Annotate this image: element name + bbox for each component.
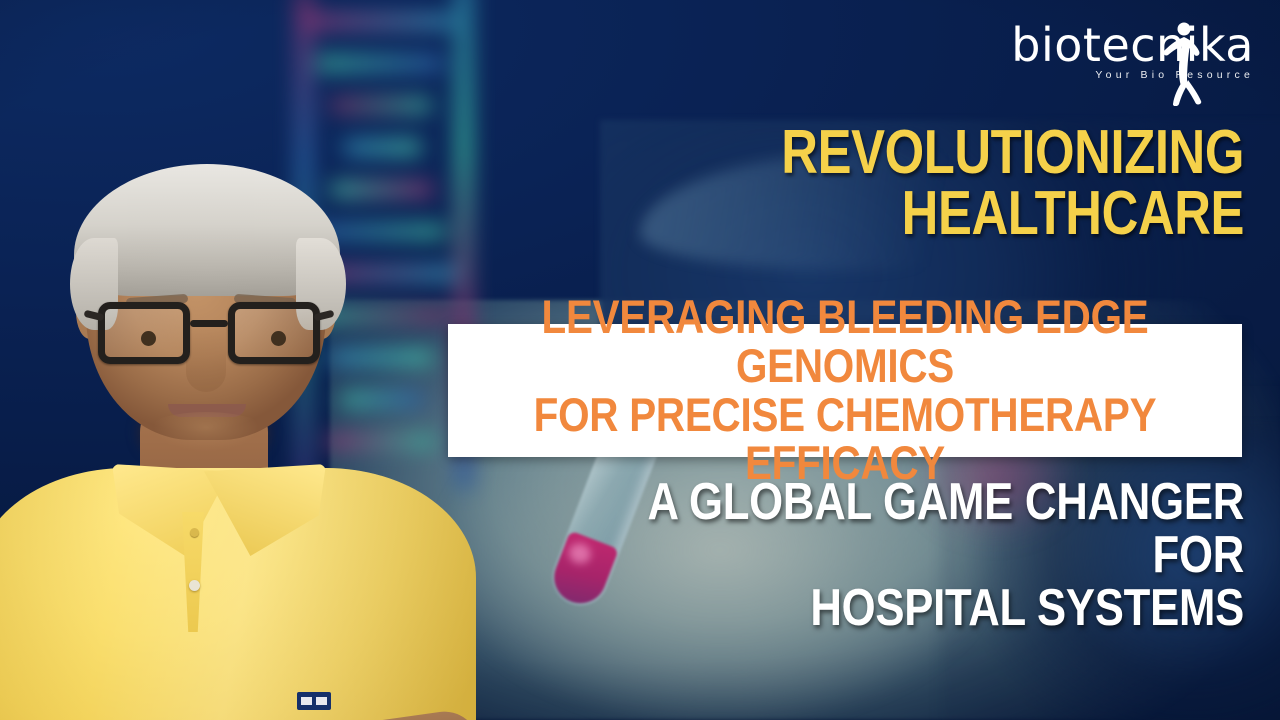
banner-strip: LEVERAGING BLEEDING EDGE GENOMICS FOR PR… xyxy=(448,324,1242,457)
portrait-photo xyxy=(0,60,460,720)
subhead-line-2: HOSPITAL SYSTEMS xyxy=(606,582,1244,635)
eyeglasses-icon xyxy=(98,296,320,374)
banner-line-1: LEVERAGING BLEEDING EDGE GENOMICS xyxy=(504,293,1187,391)
logo-tagline: Your Bio Resource xyxy=(986,69,1254,81)
logo-wordmark: biotecnika xyxy=(986,22,1254,68)
headline: REVOLUTIONIZING HEALTHCARE xyxy=(654,122,1244,245)
shirt-brand-patch xyxy=(297,692,331,710)
thumbnail-canvas: biotecnika Your Bio Resource REVOLUTIONI… xyxy=(0,0,1280,720)
shirt-button-bottom xyxy=(189,580,200,591)
shirt-button-top xyxy=(190,528,199,537)
subhead-line-1: A GLOBAL GAME CHANGER FOR xyxy=(606,476,1244,582)
chin xyxy=(136,412,276,464)
biotecnika-logo[interactable]: biotecnika Your Bio Resource xyxy=(986,22,1254,100)
headline-line-1: REVOLUTIONIZING xyxy=(654,122,1244,183)
subhead: A GLOBAL GAME CHANGER FOR HOSPITAL SYSTE… xyxy=(606,476,1244,635)
banner-text: LEVERAGING BLEEDING EDGE GENOMICS FOR PR… xyxy=(504,293,1187,489)
headline-line-2: HEALTHCARE xyxy=(654,183,1244,244)
